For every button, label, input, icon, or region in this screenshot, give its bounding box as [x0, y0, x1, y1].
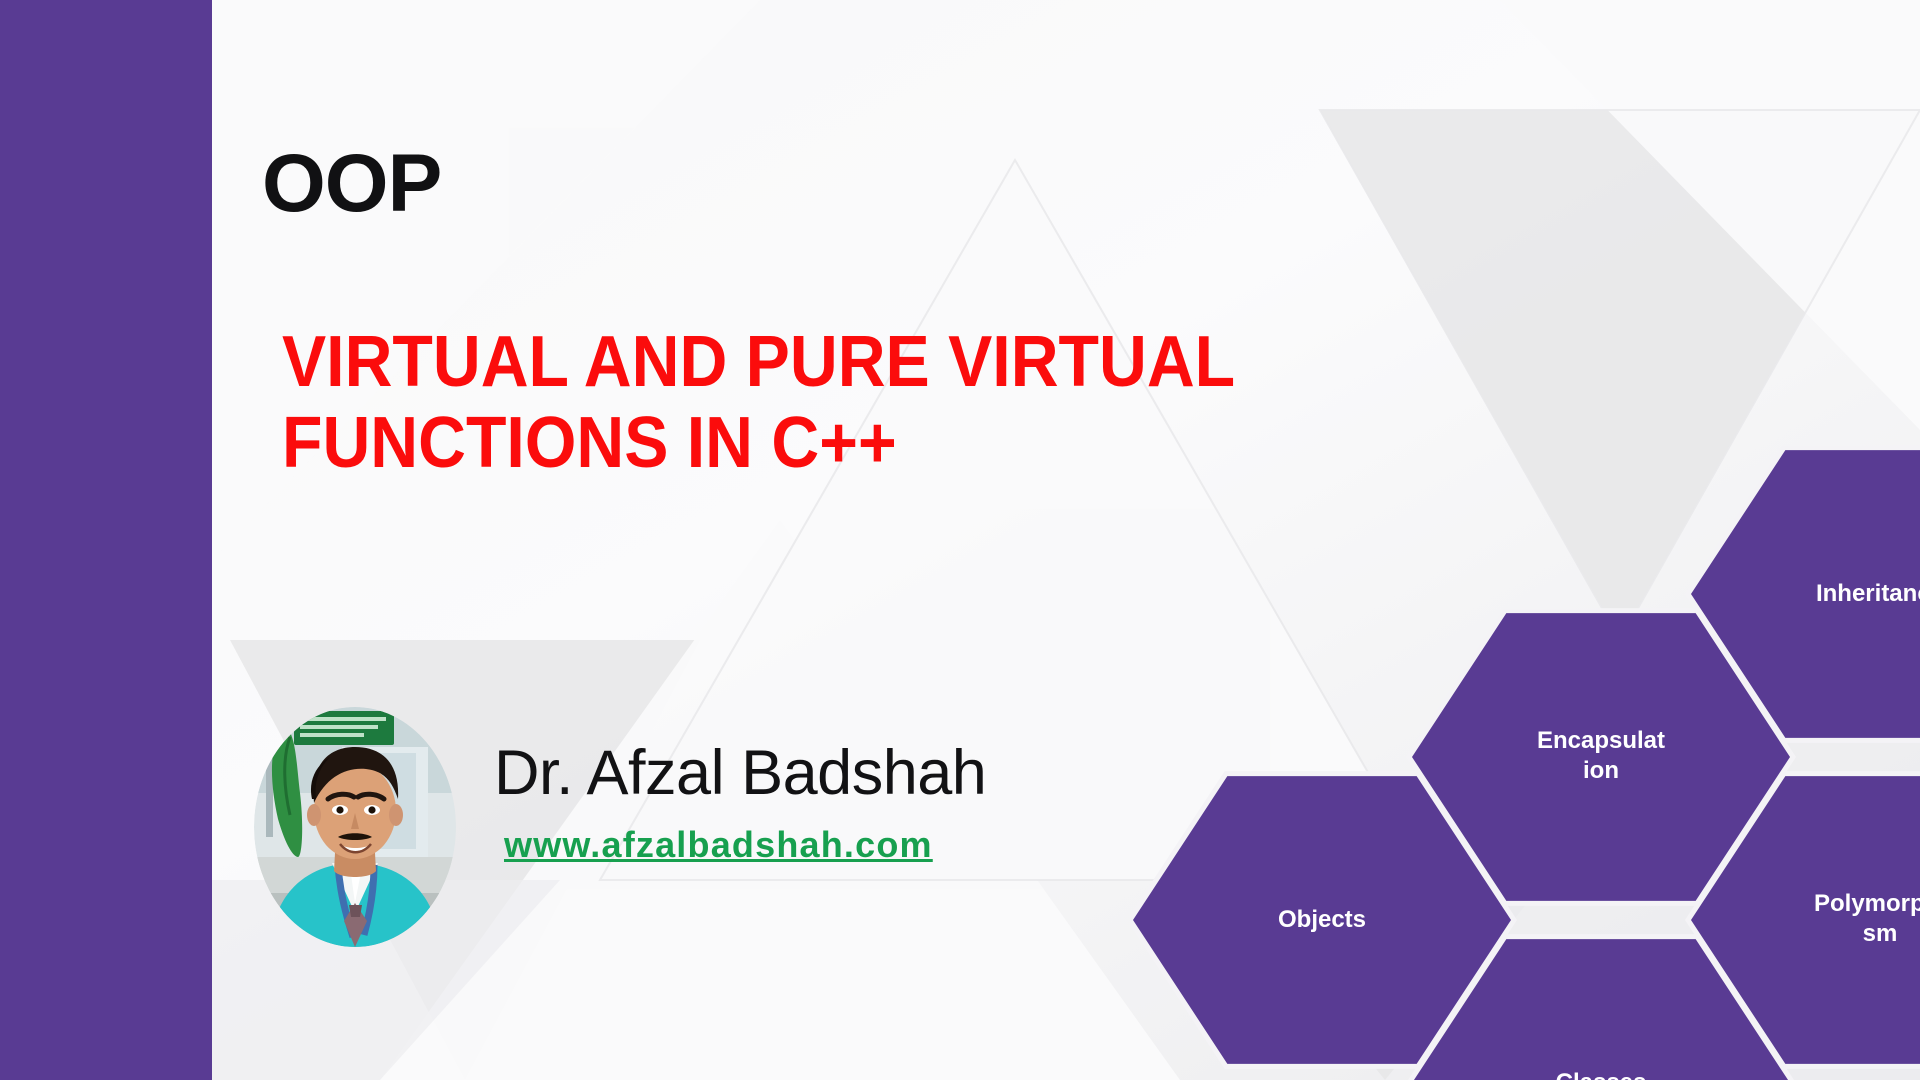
- author-website-link[interactable]: www.afzalbadshah.com: [504, 824, 933, 866]
- page-eyebrow-heading: OOP: [262, 143, 441, 225]
- author-name: Dr. Afzal Badshah: [494, 737, 986, 809]
- slide-canvas: OOP VIRTUAL AND PURE VIRTUAL FUNCTIONS I…: [0, 0, 1920, 1080]
- oop-pillars-diagram: ObjectsEncapsulationInheritanceClassesPo…: [1130, 390, 1920, 1080]
- avatar: [254, 707, 456, 947]
- left-accent-bar: [0, 0, 212, 1080]
